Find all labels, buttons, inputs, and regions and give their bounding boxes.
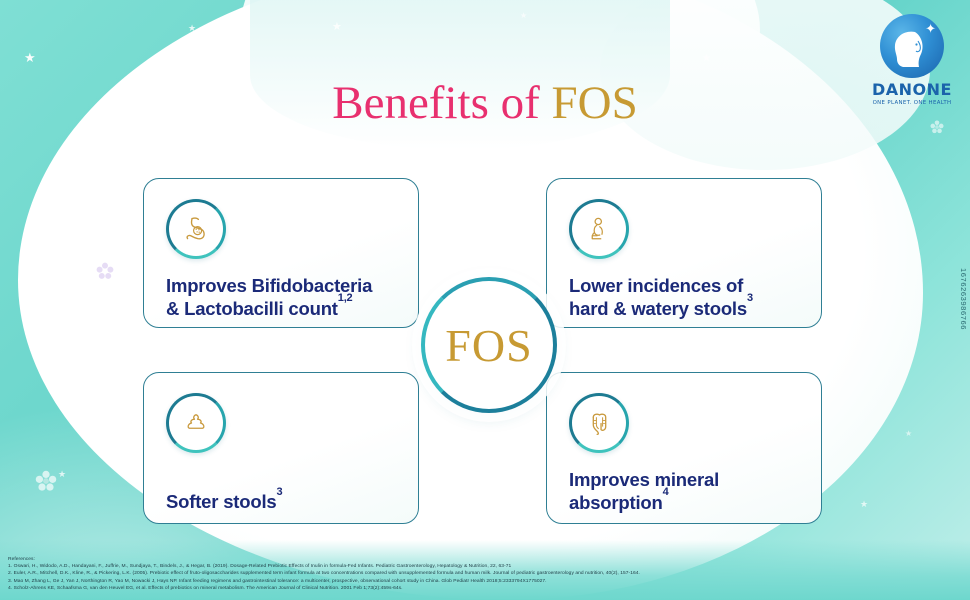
benefit-superscript: 3: [276, 486, 282, 498]
benefit-card-text: Improves mineral absorption4: [569, 469, 801, 514]
benefit-line-1: Lower incidences of: [569, 275, 743, 296]
reference-item: 4. Scholz-Ahrens KE, Schaafsma G, van de…: [8, 585, 888, 592]
icon-ring: [569, 199, 629, 259]
benefit-card-text: Improves Bifidobacteria & Lactobacilli c…: [166, 275, 398, 320]
reference-item: 2. Euler, A.R., Mitchell, D.K., Kline, R…: [8, 570, 888, 577]
star-icon: ★: [24, 51, 36, 64]
icon-ring: [569, 393, 629, 453]
references-block: References: 1. Oswari, H., Widodo, A.D.,…: [8, 556, 888, 592]
benefit-superscript: 4: [663, 486, 669, 498]
reference-item: 3. Mao M, Zhang L, Ge J, Yan J, Northing…: [8, 578, 888, 585]
benefit-card-text: Softer stools3: [166, 491, 398, 514]
flower-icon: [96, 262, 114, 280]
benefit-card-text: Lower incidences of hard & watery stools…: [569, 275, 801, 320]
page-title: Benefits of FOS: [0, 80, 970, 127]
star-icon: ★: [702, 54, 711, 64]
flower-icon: [35, 470, 57, 492]
icon-ring: [166, 393, 226, 453]
reference-item: 1. Oswari, H., Widodo, A.D., Handayani, …: [8, 563, 888, 570]
star-icon: ★: [860, 500, 868, 509]
title-part-fos: FOS: [552, 77, 638, 129]
danone-globe-child-logo-icon: ✦: [880, 14, 944, 78]
infographic-canvas: ★ ★ ★ ★ ★ ★ ★ ★ ✦ DANONE: [0, 0, 970, 600]
stool-icon: [181, 408, 211, 438]
person-on-toilet-icon: [584, 214, 614, 244]
fos-center-badge: FOS: [421, 277, 557, 413]
benefit-line-2: absorption: [569, 492, 663, 513]
benefit-card-mineral-absorption[interactable]: Improves mineral absorption4: [546, 372, 822, 524]
star-icon: ★: [188, 24, 196, 33]
fos-center-label: FOS: [445, 319, 532, 372]
star-icon: ★: [58, 470, 66, 479]
child-face-profile-icon: [885, 25, 931, 71]
title-part-benefits: Benefits: [332, 77, 489, 129]
star-icon: ★: [905, 430, 912, 438]
icon-ring: [166, 199, 226, 259]
benefit-superscript: 3: [747, 292, 753, 304]
star-icon: ★: [520, 12, 527, 20]
benefit-card-softer-stools[interactable]: Softer stools3: [143, 372, 419, 524]
references-heading: References:: [8, 556, 888, 563]
star-icon: ✦: [925, 22, 936, 35]
stomach-icon: [180, 213, 212, 245]
intestine-icon: [584, 408, 615, 439]
benefit-line-1: Improves mineral: [569, 469, 719, 490]
benefit-card-bifidobacteria[interactable]: Improves Bifidobacteria & Lactobacilli c…: [143, 178, 419, 328]
benefit-line-2: hard & watery stools: [569, 298, 747, 319]
benefit-line-2: & Lactobacilli count: [166, 298, 338, 319]
title-part-of: of: [489, 77, 552, 129]
star-icon: ★: [332, 22, 342, 33]
benefit-superscript: 1,2: [338, 292, 353, 304]
benefit-line-1: Softer stools: [166, 491, 276, 512]
side-image-code: 1676263986766: [959, 268, 968, 330]
benefit-card-hard-watery-stools[interactable]: Lower incidences of hard & watery stools…: [546, 178, 822, 328]
